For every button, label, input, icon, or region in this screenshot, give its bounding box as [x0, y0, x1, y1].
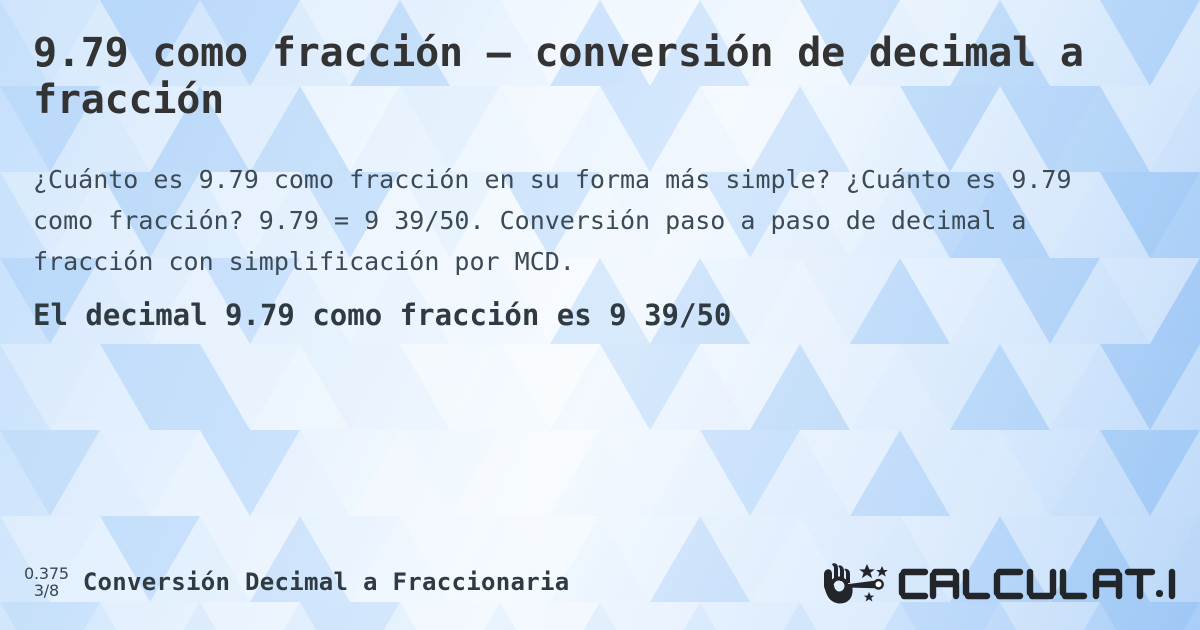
brand-right-group[interactable]	[822, 556, 1178, 608]
calculatio-wordmark	[902, 572, 1152, 596]
page-title: 9.79 como fracción – conversión de decim…	[33, 30, 1093, 124]
magic-hand-icon	[824, 563, 888, 603]
og-image-card: 9.79 como fracción – conversión de decim…	[0, 0, 1200, 630]
footer-site-name: Conversión Decimal a Fraccionaria	[83, 568, 570, 596]
calculatio-logo[interactable]	[822, 556, 1178, 608]
icon-fraction-value: 3/8	[34, 583, 59, 600]
page-description: ¿Cuánto es 9.79 como fracción en su form…	[33, 124, 1133, 282]
answer-statement: El decimal 9.79 como fracción es 9 39/50	[33, 282, 1164, 335]
footer-bar: 0.375 3/8 Conversión Decimal a Fracciona…	[0, 534, 1200, 630]
decimal-to-fraction-icon: 0.375 3/8	[24, 564, 69, 600]
brand-left-group: 0.375 3/8 Conversión Decimal a Fracciona…	[24, 564, 570, 600]
logo-dot	[1156, 590, 1163, 597]
